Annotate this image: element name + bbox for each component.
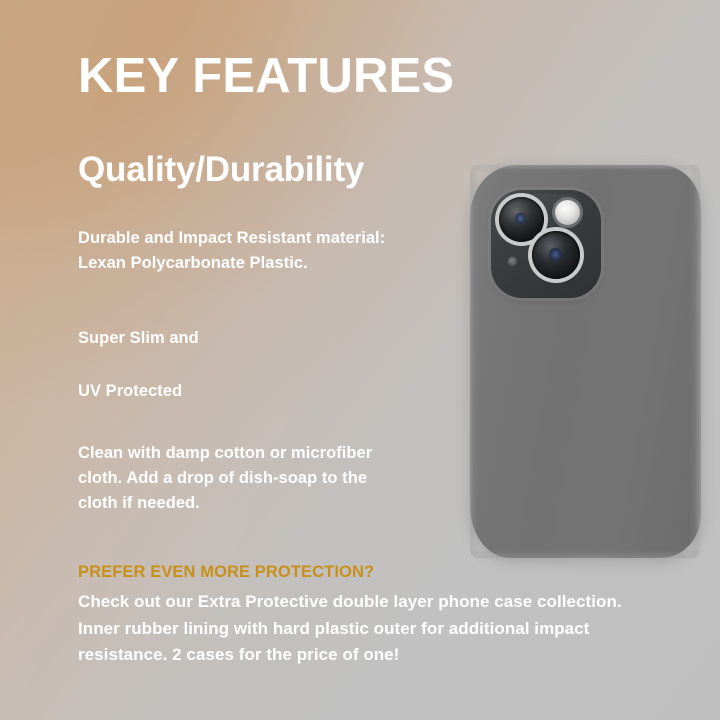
- text-content-panel: KEY FEATURES Quality/Durability Durable …: [0, 0, 470, 720]
- camera-microphone-icon: [507, 256, 518, 267]
- camera-lens-wide-icon: [499, 197, 544, 242]
- care-instructions-text: Clean with damp cotton or microfiber clo…: [78, 441, 408, 516]
- phone-case-top-edge: [470, 165, 701, 173]
- feature-material-text: Durable and Impact Resistant material: L…: [78, 226, 388, 276]
- phone-case-left-edge: [470, 165, 479, 558]
- promo-body-text: Check out our Extra Protective double la…: [78, 589, 638, 669]
- camera-module: [491, 190, 601, 298]
- promo-heading: PREFER EVEN MORE PROTECTION?: [78, 562, 374, 583]
- page-title: KEY FEATURES: [78, 52, 454, 101]
- product-image-phone-case: [470, 165, 701, 558]
- camera-lens-ultrawide-icon: [532, 231, 580, 279]
- camera-flash-icon: [555, 200, 580, 225]
- feature-slim-text: Super Slim and: [78, 326, 199, 351]
- section-heading-quality-durability: Quality/Durability: [78, 152, 364, 189]
- feature-uv-text: UV Protected: [78, 379, 182, 404]
- phone-case-right-edge: [689, 165, 701, 558]
- phone-case-bottom-edge: [470, 548, 701, 558]
